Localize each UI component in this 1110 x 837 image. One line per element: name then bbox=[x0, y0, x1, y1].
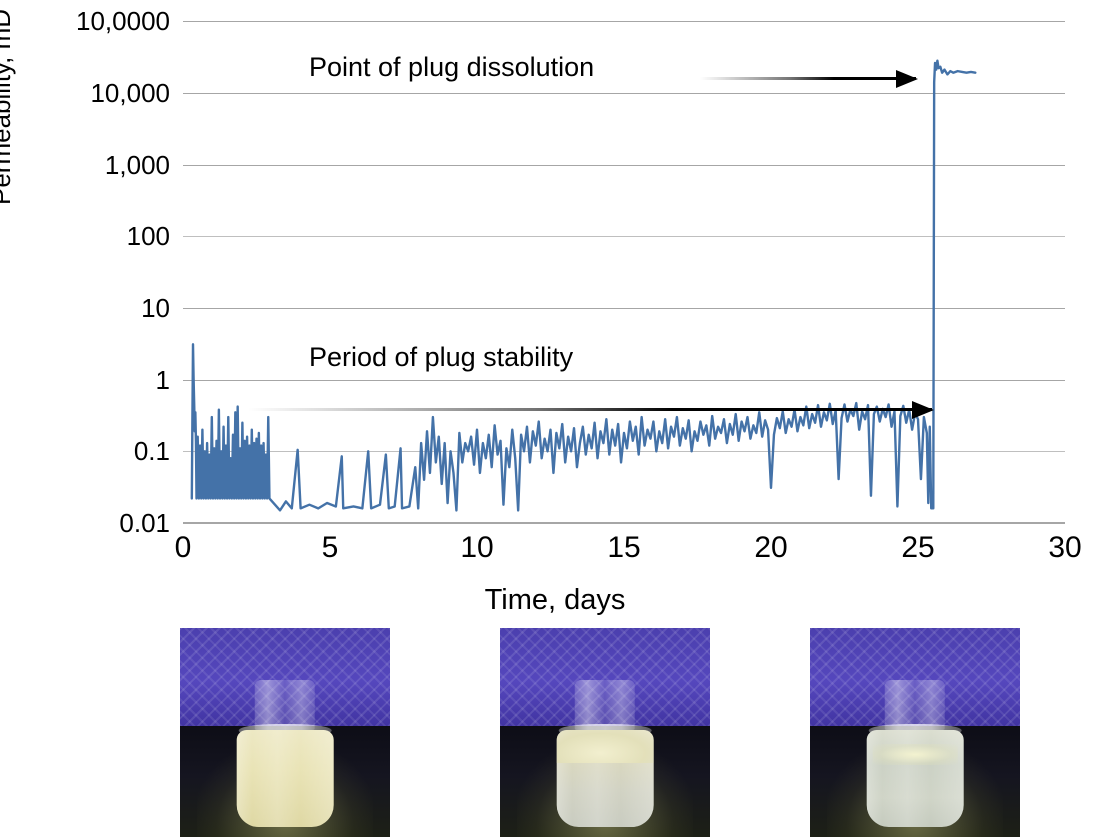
jar-neck bbox=[885, 680, 945, 730]
arrow-head-icon bbox=[896, 70, 918, 88]
permeability-vs-time-chart: Permeability, mD 10,0000 10,000 1,000 10… bbox=[0, 0, 1110, 837]
annotation-arrow-stability bbox=[248, 401, 932, 419]
jar-3 bbox=[867, 680, 964, 826]
jar-body bbox=[237, 730, 334, 827]
jar-body bbox=[557, 730, 654, 827]
y-tick-label-0.1: 0.1 bbox=[0, 438, 170, 464]
y-tick-label-1: 1 bbox=[0, 367, 170, 393]
jar-2 bbox=[557, 680, 654, 826]
arrow-shaft bbox=[248, 408, 932, 411]
photo-jar-partially-dissolved bbox=[500, 628, 710, 837]
y-tick-label-100: 100 bbox=[0, 223, 170, 249]
x-tick-label-0: 0 bbox=[153, 532, 213, 564]
jar-sheen bbox=[237, 730, 334, 827]
x-tick-label-5: 5 bbox=[300, 532, 360, 564]
jar-neck bbox=[575, 680, 635, 730]
annotation-arrow-dissolution bbox=[700, 70, 916, 88]
jar-sheen bbox=[557, 730, 654, 827]
y-tick-label-10: 10 bbox=[0, 295, 170, 321]
jar-1 bbox=[237, 680, 334, 826]
plot-area bbox=[183, 21, 1065, 523]
x-tick-label-15: 15 bbox=[594, 532, 654, 564]
jar-sheen bbox=[867, 730, 964, 827]
series-line-permeability bbox=[192, 61, 976, 511]
jar-neck bbox=[255, 680, 315, 730]
y-tick-label-10000: 10,000 bbox=[0, 80, 170, 106]
arrow-shaft bbox=[700, 77, 916, 80]
y-tick-label-100000: 10,0000 bbox=[0, 8, 170, 34]
photo-jar-cloudy-gel bbox=[180, 628, 390, 837]
x-axis-title: Time, days bbox=[0, 584, 1110, 616]
permeability-series bbox=[183, 21, 1065, 523]
annotation-period-of-plug-stability: Period of plug stability bbox=[309, 342, 573, 372]
x-tick-label-20: 20 bbox=[741, 532, 801, 564]
jar-body bbox=[867, 730, 964, 827]
x-tick-label-30: 30 bbox=[1035, 532, 1095, 564]
annotation-point-of-plug-dissolution: Point of plug dissolution bbox=[309, 52, 594, 82]
photo-jar-clear-fluid bbox=[810, 628, 1020, 837]
y-tick-label-0.01: 0.01 bbox=[0, 510, 170, 536]
y-tick-label-1000: 1,000 bbox=[0, 152, 170, 178]
arrow-head-icon bbox=[912, 401, 934, 419]
x-tick-label-25: 25 bbox=[888, 532, 948, 564]
x-tick-label-10: 10 bbox=[447, 532, 507, 564]
